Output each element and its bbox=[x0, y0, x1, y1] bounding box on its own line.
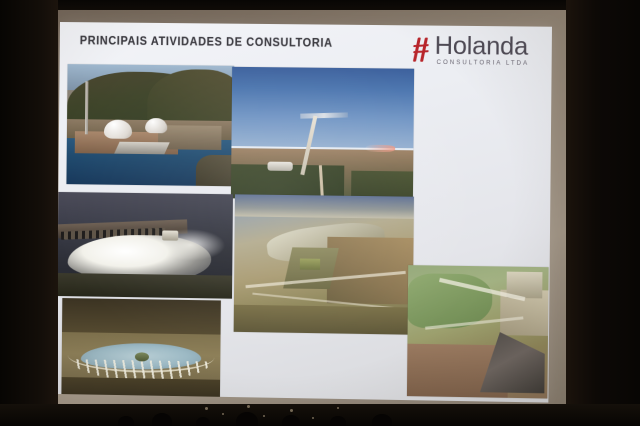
construction-site-aerial-photo-1 bbox=[234, 194, 414, 334]
logo-tagline: CONSULTORIA LTDA bbox=[437, 60, 530, 67]
coastal-lagoon-marina-photo bbox=[61, 298, 220, 402]
nuclear-power-plant-photo bbox=[66, 64, 234, 186]
construction-site-aerial-photo-2 bbox=[407, 265, 549, 398]
logo-company-name: Holanda bbox=[435, 34, 530, 60]
coastal-pier-photo bbox=[231, 67, 414, 201]
company-logo: Holanda CONSULTORIA LTDA bbox=[411, 33, 529, 66]
double-slash-icon bbox=[411, 35, 432, 63]
presentation-room: PRINCIPAIS ATIVIDADES DE CONSULTORIA Hol… bbox=[0, 0, 640, 426]
wall-left bbox=[0, 0, 58, 426]
slide-title: PRINCIPAIS ATIVIDADES DE CONSULTORIA bbox=[80, 35, 333, 50]
hydroelectric-dam-spillway-photo bbox=[57, 192, 233, 299]
logo-text-block: Holanda CONSULTORIA LTDA bbox=[434, 34, 529, 67]
audience-silhouettes bbox=[0, 398, 640, 426]
wall-right bbox=[566, 0, 640, 426]
presentation-slide: PRINCIPAIS ATIVIDADES DE CONSULTORIA Hol… bbox=[56, 22, 552, 403]
